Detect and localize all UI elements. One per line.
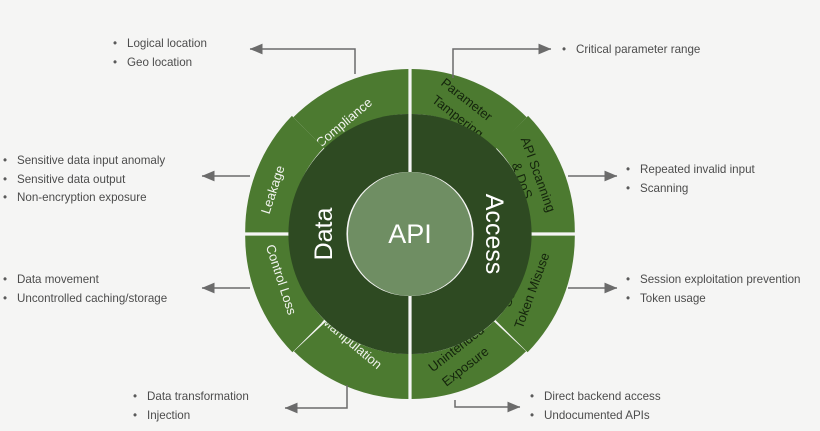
bullet-item: • Session exploitation prevention (626, 271, 800, 290)
bullet-dot-icon: • (3, 171, 17, 190)
bullet-label: Sensitive data output (17, 171, 125, 190)
callout-sensitive-data: • Sensitive data input anomaly • Sensiti… (3, 152, 165, 208)
bullet-dot-icon: • (562, 41, 576, 60)
bullet-label: Token usage (640, 290, 706, 309)
bullet-dot-icon: • (113, 35, 127, 54)
connector-parameter-tampering (453, 49, 551, 78)
bullet-label: Session exploitation prevention (640, 271, 800, 290)
bullet-label: Non-encryption exposure (17, 189, 147, 208)
bullet-dot-icon: • (3, 189, 17, 208)
bullet-dot-icon: • (133, 407, 147, 426)
bullet-label: Direct backend access (544, 388, 661, 407)
bullet-item: • Data transformation (133, 388, 249, 407)
bullet-item: • Undocumented APIs (530, 407, 661, 426)
callout-critical-parameter: • Critical parameter range (562, 41, 700, 60)
bullet-item: • Uncontrolled caching/storage (3, 290, 167, 309)
bullet-dot-icon: • (626, 290, 640, 309)
bullet-label: Geo location (127, 54, 192, 73)
bullet-dot-icon: • (113, 54, 127, 73)
bullet-dot-icon: • (133, 388, 147, 407)
bullet-label: Undocumented APIs (544, 407, 650, 426)
bullet-item: • Scanning (626, 180, 755, 199)
diagram-canvas: Non-Compliance Leakage Control Loss Mani… (0, 0, 820, 431)
bullet-item: • Geo location (113, 54, 207, 73)
bullet-dot-icon: • (626, 271, 640, 290)
callout-repeated-invalid-input: • Repeated invalid input • Scanning (626, 161, 755, 198)
bullet-label: Injection (147, 407, 190, 426)
bullet-label: Sensitive data input anomaly (17, 152, 165, 171)
bullet-dot-icon: • (3, 152, 17, 171)
bullet-item: • Data movement (3, 271, 167, 290)
bullet-label: Scanning (640, 180, 688, 199)
callout-session-exploitation: • Session exploitation prevention • Toke… (626, 271, 800, 308)
bullet-dot-icon: • (3, 290, 17, 309)
bullet-item: • Direct backend access (530, 388, 661, 407)
callout-logical-location: • Logical location • Geo location (113, 35, 207, 72)
bullet-item: • Repeated invalid input (626, 161, 755, 180)
connector-manipulation (285, 385, 347, 408)
bullet-dot-icon: • (3, 271, 17, 290)
bullet-dot-icon: • (626, 161, 640, 180)
hub-label-api: API (388, 219, 432, 249)
bullet-item: • Logical location (113, 35, 207, 54)
bullet-item: • Non-encryption exposure (3, 189, 165, 208)
bullet-label: Critical parameter range (576, 41, 700, 60)
bullet-item: • Sensitive data input anomaly (3, 152, 165, 171)
connector-non-compliance (250, 49, 355, 74)
half-label-access: Access (480, 194, 508, 275)
connector-unintended-exposure (455, 400, 520, 407)
half-label-data: Data (310, 208, 338, 261)
bullet-item: • Critical parameter range (562, 41, 700, 60)
bullet-label: Data transformation (147, 388, 249, 407)
bullet-item: • Sensitive data output (3, 171, 165, 190)
callout-data-transformation: • Data transformation • Injection (133, 388, 249, 425)
bullet-item: • Injection (133, 407, 249, 426)
bullet-label: Data movement (17, 271, 99, 290)
bullet-label: Logical location (127, 35, 207, 54)
callout-data-movement: • Data movement • Uncontrolled caching/s… (3, 271, 167, 308)
bullet-label: Repeated invalid input (640, 161, 755, 180)
bullet-dot-icon: • (626, 180, 640, 199)
bullet-item: • Token usage (626, 290, 800, 309)
bullet-dot-icon: • (530, 388, 544, 407)
callout-direct-backend-access: • Direct backend access • Undocumented A… (530, 388, 661, 425)
bullet-dot-icon: • (530, 407, 544, 426)
bullet-label: Uncontrolled caching/storage (17, 290, 167, 309)
